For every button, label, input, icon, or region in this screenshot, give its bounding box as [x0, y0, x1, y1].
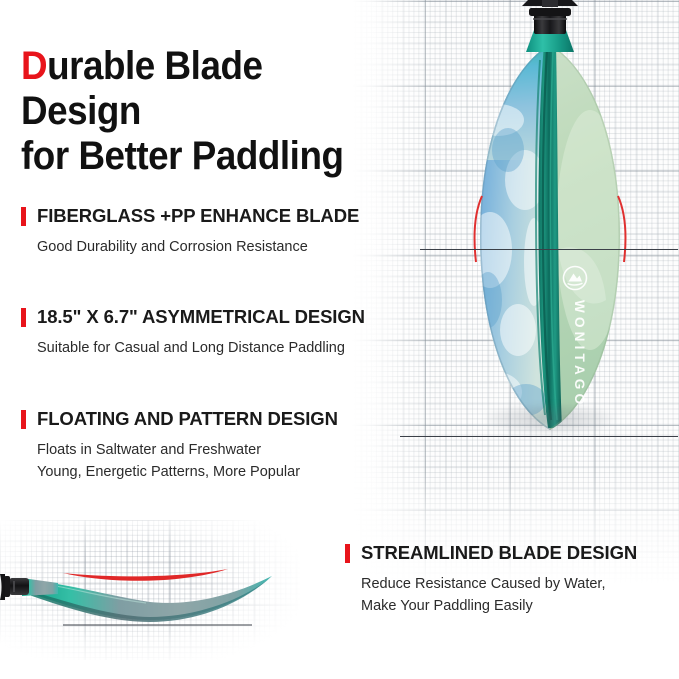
length-measure-line: [400, 436, 678, 437]
feature-heading-row: FIBERGLASS +PP ENHANCE BLADE: [21, 205, 421, 227]
feature-subtitle-line: Suitable for Casual and Long Distance Pa…: [37, 337, 421, 359]
feature-title: STREAMLINED BLADE DESIGN: [361, 542, 637, 564]
title-line-1: urable Blade Design: [21, 44, 262, 133]
feature-heading-row: FLOATING AND PATTERN DESIGN: [21, 408, 421, 430]
feature-subtitle-line: Good Durability and Corrosion Resistance: [37, 236, 421, 258]
profile-illustration: [0, 540, 300, 650]
feature-subtitles: Suitable for Casual and Long Distance Pa…: [37, 337, 421, 359]
title-line-2: for Better Paddling: [21, 134, 389, 179]
bullet-marker-icon: [21, 308, 26, 327]
brand-wordmark: WONITAGO: [572, 300, 587, 408]
bullet-marker-icon: [345, 544, 350, 563]
curvature-indicator-arc: [63, 569, 228, 581]
feature-subtitle-line: Young, Energetic Patterns, More Popular: [37, 461, 421, 483]
feature-subtitle-line: Make Your Paddling Easily: [361, 595, 675, 617]
profile-ferrule: [0, 574, 29, 600]
ferrule-connector: [522, 0, 578, 52]
feature-heading-row: STREAMLINED BLADE DESIGN: [345, 542, 675, 564]
bullet-marker-icon: [21, 410, 26, 429]
blade-profile-shape: [26, 576, 272, 620]
feature-subtitle-line: Floats in Saltwater and Freshwater: [37, 439, 421, 461]
paddle-blade-face-view: WONITAGO: [430, 0, 670, 470]
title-accent-letter: D: [21, 44, 47, 88]
feature-title: FIBERGLASS +PP ENHANCE BLADE: [37, 205, 359, 227]
blade-illustration: WONITAGO: [430, 0, 670, 470]
feature-asymmetrical: 18.5" X 6.7" ASYMMETRICAL DESIGN Suitabl…: [21, 306, 421, 359]
feature-subtitle-line: Reduce Resistance Caused by Water,: [361, 573, 675, 595]
feature-subtitles: Floats in Saltwater and Freshwater Young…: [37, 439, 421, 484]
bullet-marker-icon: [21, 207, 26, 226]
feature-subtitles: Good Durability and Corrosion Resistance: [37, 236, 421, 258]
page-title: Durable Blade Design for Better Paddling: [21, 44, 389, 178]
paddle-blade-profile-view: [0, 540, 300, 650]
product-infographic: Durable Blade Design for Better Paddling…: [0, 0, 679, 679]
feature-streamlined: STREAMLINED BLADE DESIGN Reduce Resistan…: [345, 542, 675, 618]
feature-title: FLOATING AND PATTERN DESIGN: [37, 408, 338, 430]
feature-heading-row: 18.5" X 6.7" ASYMMETRICAL DESIGN: [21, 306, 421, 328]
width-measure-line: [420, 249, 678, 250]
feature-floating: FLOATING AND PATTERN DESIGN Floats in Sa…: [21, 408, 421, 484]
feature-subtitles: Reduce Resistance Caused by Water, Make …: [361, 573, 675, 618]
feature-fiberglass: FIBERGLASS +PP ENHANCE BLADE Good Durabi…: [21, 205, 421, 258]
blade-drop-shadow: [486, 404, 614, 434]
feature-title: 18.5" X 6.7" ASYMMETRICAL DESIGN: [37, 306, 365, 328]
